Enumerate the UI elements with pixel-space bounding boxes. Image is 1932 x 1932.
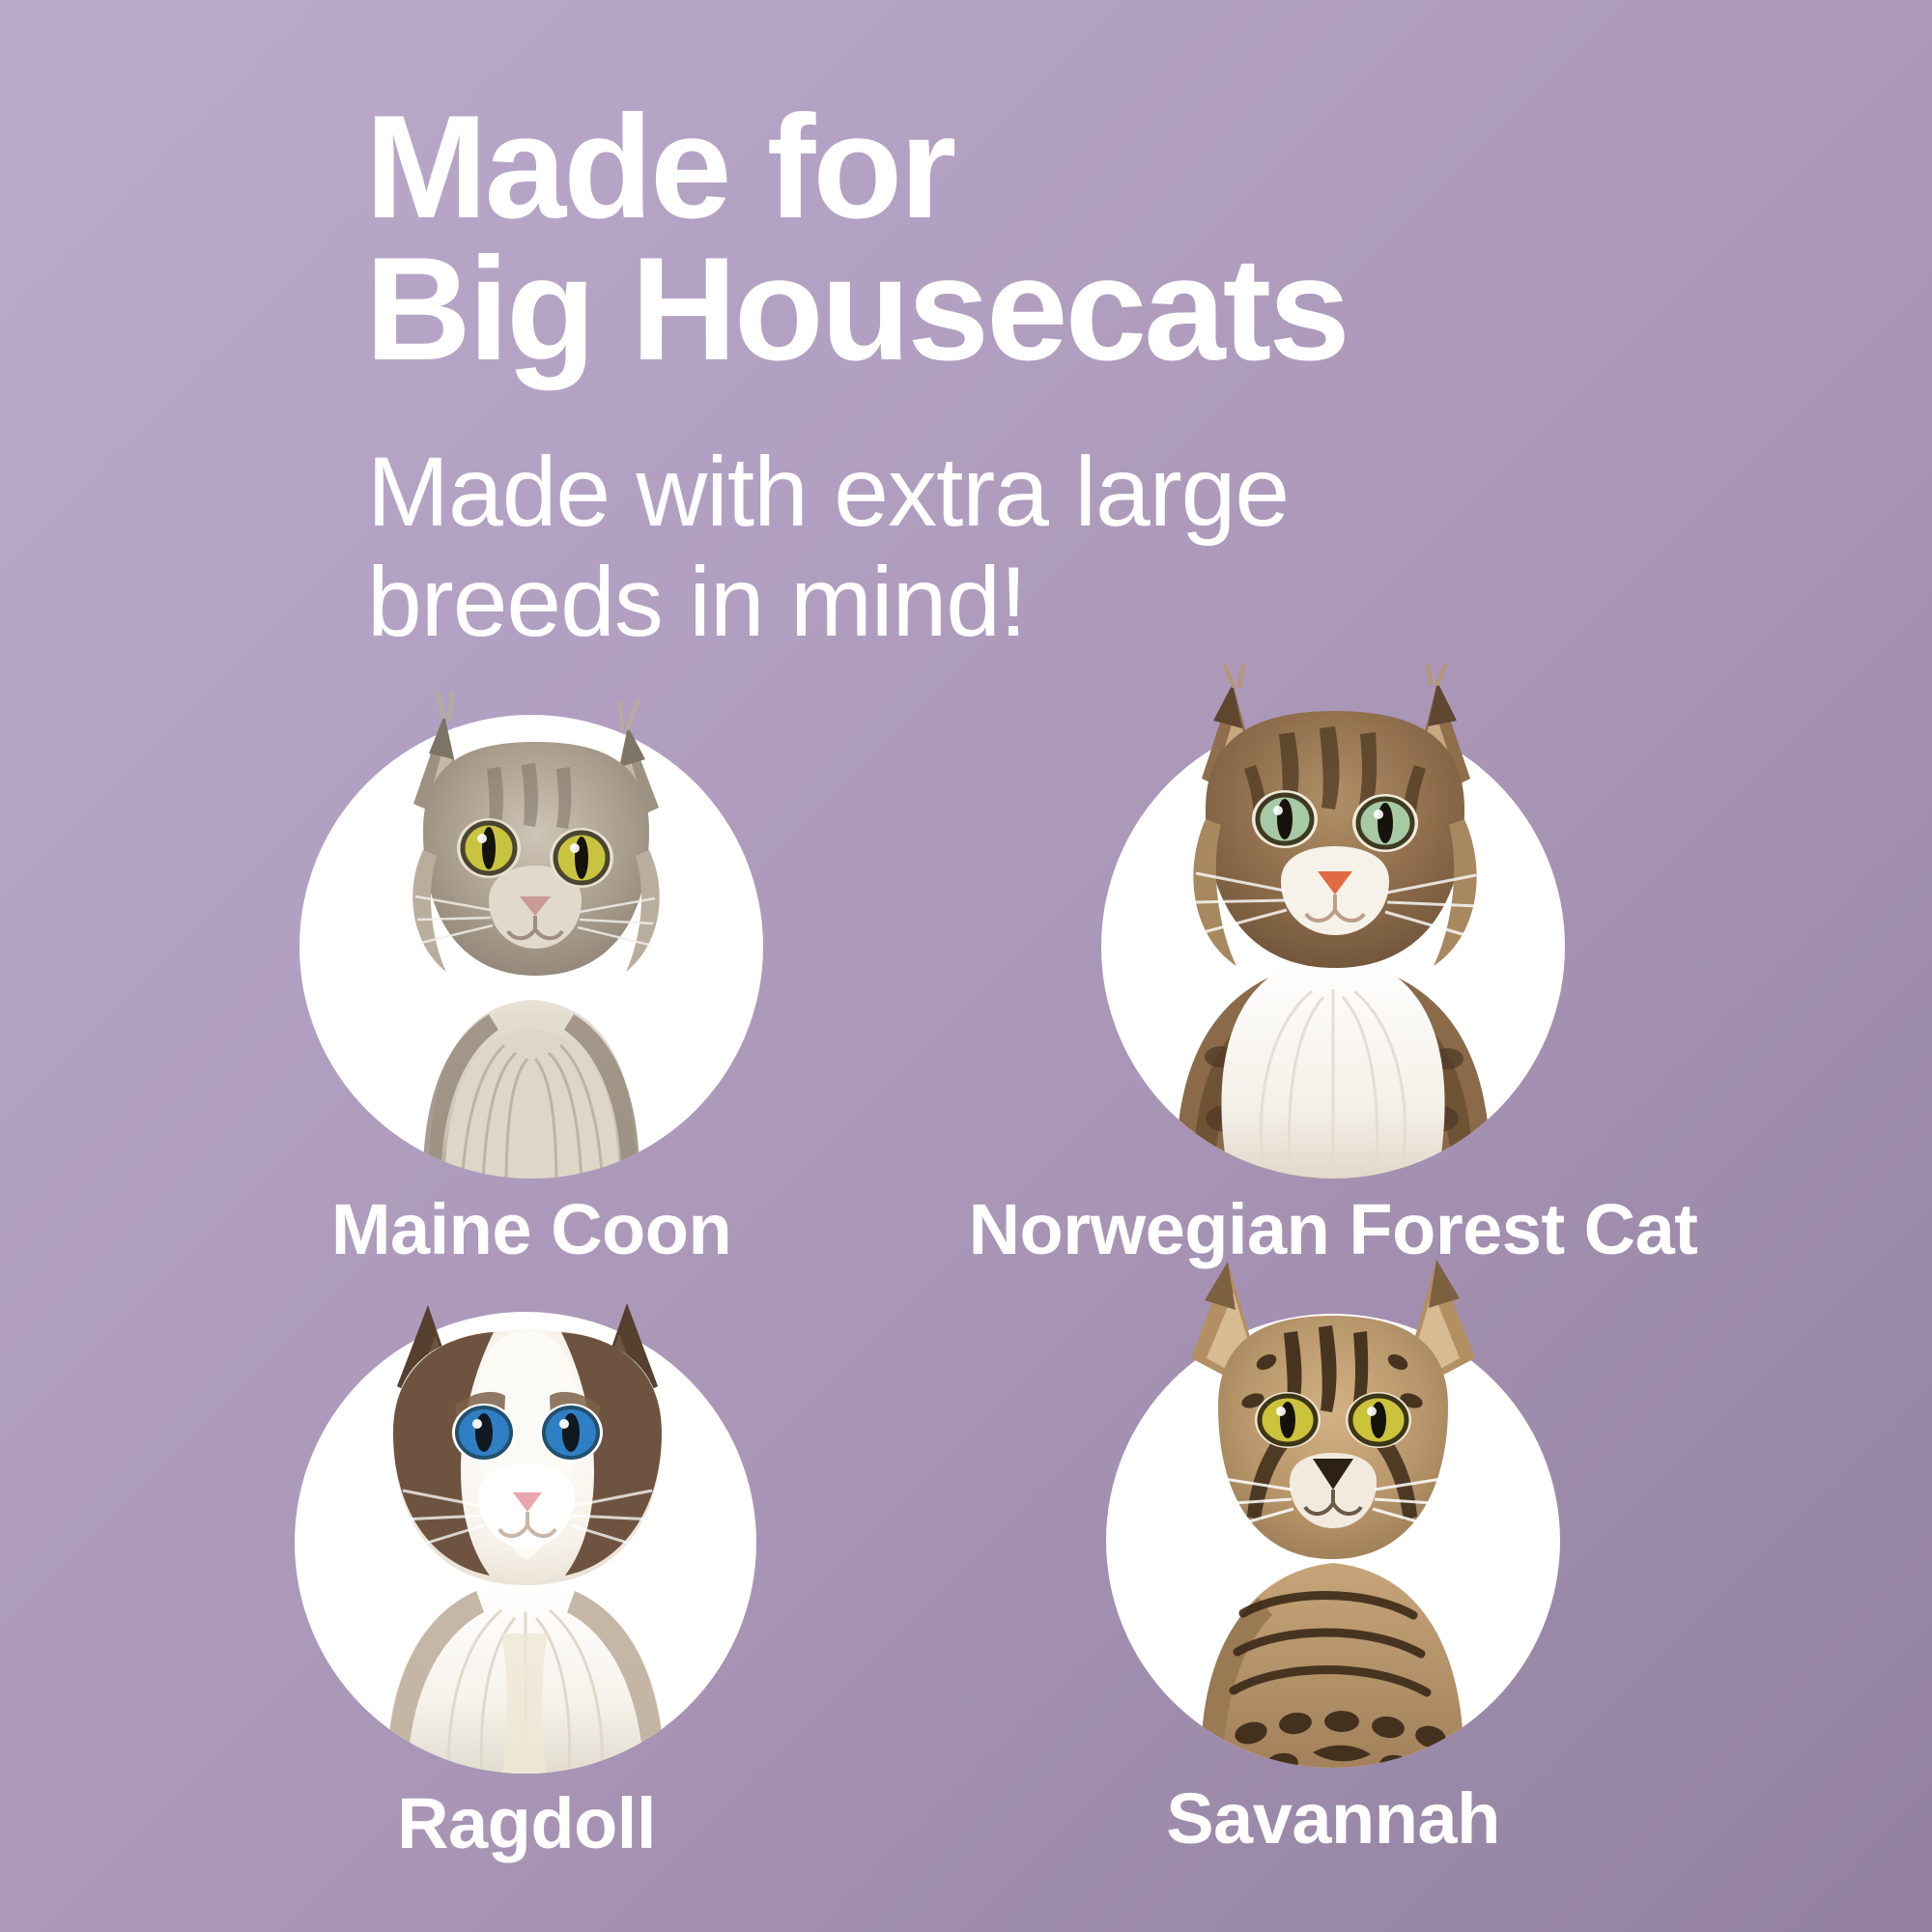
breed-card-savannah[interactable]: Savannah <box>1101 1294 1565 1845</box>
maine-coon-photo <box>299 715 763 1179</box>
breed-label: Maine Coon <box>241 1188 821 1270</box>
breed-label: Savannah <box>1043 1777 1623 1860</box>
breed-card-maine-coon[interactable]: Maine Coon <box>290 710 773 1251</box>
savannah-illustration <box>1106 1254 1560 1776</box>
breed-photo-disc <box>1106 1314 1560 1768</box>
breed-label: Ragdoll <box>237 1782 816 1864</box>
promo-poster: Made for Big Housecats Made with extra l… <box>0 0 1932 1932</box>
breed-photo-disc <box>295 1312 756 1774</box>
breed-card-norwegian-forest-cat[interactable]: Norwegian Forest Cat <box>1092 710 1575 1251</box>
ragdoll-illustration <box>295 1278 756 1780</box>
norwegian-forest-cat-photo <box>1101 715 1565 1179</box>
subtitle: Made with extra large breeds in mind! <box>367 437 1816 657</box>
norwegian-forest-cat-illustration <box>1101 665 1565 1186</box>
breed-card-ragdoll[interactable]: Ragdoll <box>290 1309 763 1850</box>
ragdoll-photo <box>295 1312 756 1774</box>
headline-line-2: Big Housecats <box>365 239 1872 381</box>
headline: Made for Big Housecats <box>365 97 1872 382</box>
breed-photo-disc <box>299 715 763 1179</box>
subtitle-line-1: Made with extra large <box>367 437 1816 547</box>
savannah-photo <box>1106 1314 1560 1768</box>
maine-coon-illustration <box>299 686 763 1188</box>
headline-line-1: Made for <box>365 97 1872 239</box>
breed-photo-disc <box>1101 715 1565 1179</box>
subtitle-line-2: breeds in mind! <box>367 547 1816 657</box>
